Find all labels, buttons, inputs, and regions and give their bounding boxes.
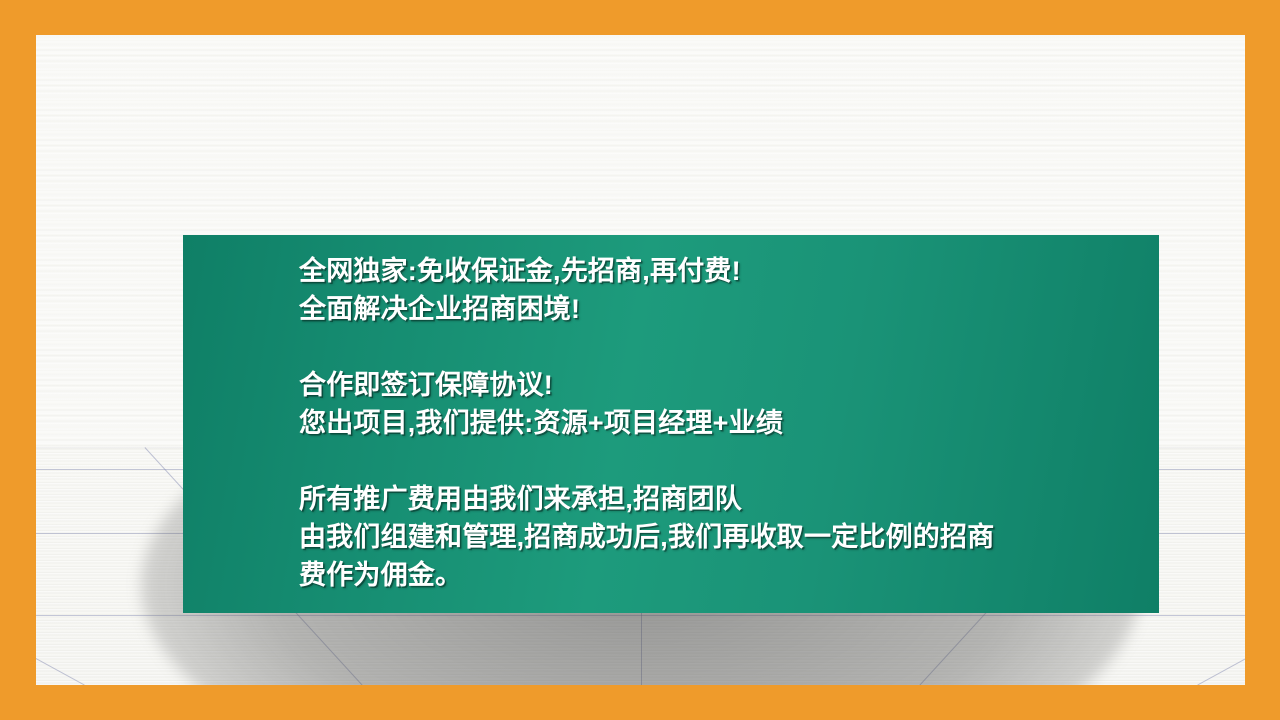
presentation-slide: 全网独家:免收保证金,先招商,再付费! 全面解决企业招商困境! 合作即签订保障协… — [0, 0, 1280, 720]
panel-line: 所有推广费用由我们来承担,招商团队 — [299, 480, 1149, 518]
panel-line: 全面解决企业招商困境! — [299, 290, 1149, 328]
panel-line: 费作为佣金。 — [299, 556, 1149, 594]
panel-line-spacer — [299, 328, 1149, 366]
green-message-panel: 全网独家:免收保证金,先招商,再付费! 全面解决企业招商困境! 合作即签订保障协… — [183, 235, 1159, 613]
panel-line: 由我们组建和管理,招商成功后,我们再收取一定比例的招商 — [299, 518, 1149, 556]
panel-line-spacer — [299, 442, 1149, 480]
panel-line: 全网独家:免收保证金,先招商,再付费! — [299, 252, 1149, 290]
panel-text-block: 全网独家:免收保证金,先招商,再付费! 全面解决企业招商困境! 合作即签订保障协… — [299, 252, 1149, 594]
slide-stage: 全网独家:免收保证金,先招商,再付费! 全面解决企业招商困境! 合作即签订保障协… — [36, 35, 1245, 685]
panel-line: 合作即签订保障协议! — [299, 366, 1149, 404]
panel-line: 您出项目,我们提供:资源+项目经理+业绩 — [299, 404, 1149, 442]
